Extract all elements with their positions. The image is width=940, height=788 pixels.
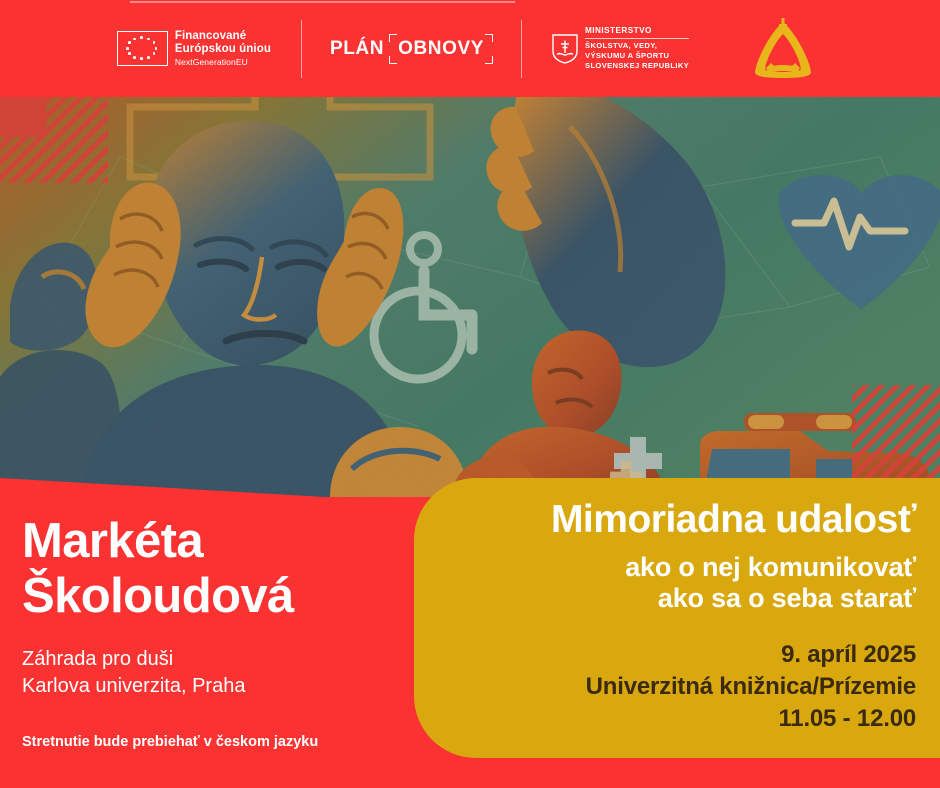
ministry-line3: VÝSKUMU A ŠPORTU [585, 51, 689, 61]
slovak-coat-of-arms-shield-icon [552, 34, 578, 64]
language-note: Stretnutie bude prebiehať v českom jazyk… [22, 734, 412, 750]
speaker-first-name: Markéta [22, 514, 412, 569]
event-details-content: Mimoriadna udalosť ako o nej komunikovať… [446, 500, 916, 734]
logo-divider-1 [301, 20, 302, 78]
eu-flag-stars-icon [117, 31, 168, 66]
bracket-bottom-right-icon [485, 56, 493, 64]
eu-logo-line3: NextGenerationEU [175, 58, 271, 68]
speaker-last-name: Školoudová [22, 569, 412, 624]
bracket-top-left-icon [389, 34, 397, 42]
funding-logo-bar: Financované Európskou úniou NextGenerati… [0, 0, 940, 97]
event-poster: Financované Európskou úniou NextGenerati… [0, 0, 940, 788]
plan-obnovy-word2: OBNOVY [398, 38, 484, 59]
top-hairline-divider [130, 1, 515, 3]
ministry-logo: MINISTERSTVO ŠKOLSTVA, VEDY, VÝSKUMU A Š… [536, 26, 689, 70]
event-time: 11.05 - 12.00 [446, 703, 916, 735]
speaker-affiliation-line1: Záhrada pro duši [22, 646, 412, 674]
ministry-line2: ŠKOLSTVA, VEDY, [585, 41, 689, 51]
speaker-affiliation: Záhrada pro duši Karlova univerzita, Pra… [22, 646, 412, 701]
event-date: 9. apríl 2025 [446, 639, 916, 671]
university-logo [743, 14, 823, 84]
poster-illustration [0, 97, 940, 497]
ministry-rule [585, 38, 689, 39]
eu-funding-logo: Financované Európskou úniou NextGenerati… [117, 30, 287, 67]
ministry-heading: MINISTERSTVO [585, 26, 689, 37]
eu-logo-line1: Financované [175, 30, 271, 43]
speaker-info-block: Markéta Školoudová Záhrada pro duši Karl… [22, 514, 412, 750]
bracket-bottom-left-icon [389, 56, 397, 64]
event-title: Mimoriadna udalosť [446, 500, 916, 541]
event-venue: Univerzitná knižnica/Prízemie [446, 671, 916, 703]
plan-obnovy-word1: PLÁN [330, 38, 384, 60]
plan-obnovy-word2-bracketed: OBNOVY [389, 34, 493, 64]
eu-funding-logo-text: Financované Európskou úniou NextGenerati… [175, 30, 271, 67]
event-details-panel: Mimoriadna udalosť ako o nej komunikovať… [414, 478, 940, 758]
speaker-affiliation-line2: Karlova univerzita, Praha [22, 673, 412, 701]
ministry-logo-text: MINISTERSTVO ŠKOLSTVA, VEDY, VÝSKUMU A Š… [585, 26, 689, 70]
university-triangular-crest-icon [743, 14, 823, 84]
logo-divider-2 [521, 20, 522, 78]
event-subtitle-line2: ako sa o seba starať [446, 583, 916, 615]
eu-logo-line2: Európskou úniou [175, 43, 271, 56]
plan-obnovy-logo: PLÁN OBNOVY [316, 34, 507, 64]
bracket-top-right-icon [485, 34, 493, 42]
event-logistics: 9. apríl 2025 Univerzitná knižnica/Príze… [446, 639, 916, 734]
illustration-artwork [0, 97, 940, 497]
ministry-line4: SLOVENSKEJ REPUBLIKY [585, 61, 689, 71]
event-subtitle-line1: ako o nej komunikovať [446, 552, 916, 584]
event-subtitle: ako o nej komunikovať ako sa o seba star… [446, 552, 916, 616]
illustration-grain-overlay [0, 97, 940, 497]
